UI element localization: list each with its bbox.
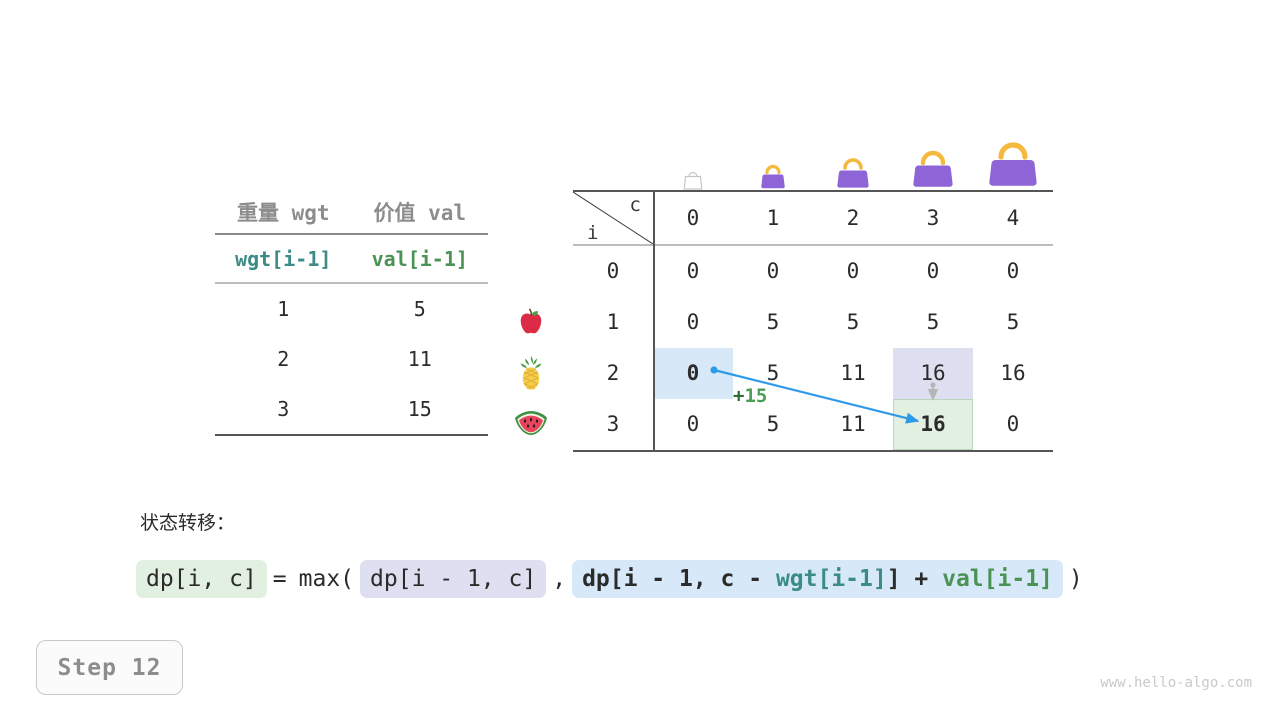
- apple-icon: [506, 296, 556, 347]
- formula-close-paren: ): [1063, 566, 1089, 592]
- left-table-subheader-val: val[i-1]: [352, 247, 489, 271]
- dp-corner-col-label: c: [630, 194, 641, 216]
- plus-value: 15: [744, 385, 767, 407]
- footer-watermark: www.hello-algo.com: [1100, 675, 1252, 691]
- left-table-cell-val: 5: [352, 297, 489, 321]
- left-table-subheader-wgt: wgt[i-1]: [215, 247, 352, 271]
- plus-value-annotation: +15: [733, 385, 767, 407]
- dp-cell: 0: [973, 246, 1053, 297]
- bag-large-icon: [893, 146, 973, 190]
- formula-term-take-prefix: dp[i - 1, c -: [582, 566, 776, 592]
- left-table-header-val: 价值 val: [352, 197, 489, 227]
- dp-row-label: 2: [573, 348, 653, 399]
- dp-table-vertical-separator: [653, 190, 655, 452]
- left-table-cell-val: 15: [352, 397, 489, 421]
- dp-cell: 5: [893, 297, 973, 348]
- dp-table-header-row: c i 0 1 2 3 4: [573, 192, 1053, 244]
- dp-cell: 16: [973, 348, 1053, 399]
- dp-cell: 0: [653, 246, 733, 297]
- pineapple-icon: [506, 347, 556, 398]
- state-transition-formula: dp[i, c] = max( dp[i - 1, c] , dp[i - 1,…: [136, 560, 1089, 598]
- dp-col-header: 2: [813, 192, 893, 244]
- dp-col-header: 3: [893, 192, 973, 244]
- left-table-row: 1 5: [215, 284, 488, 334]
- dp-cell-highlight-above: 16: [893, 348, 973, 399]
- dp-cell: 0: [653, 297, 733, 348]
- dp-cell: 5: [733, 297, 813, 348]
- left-table-cell-wgt: 3: [215, 397, 352, 421]
- formula-term-take: dp[i - 1, c - wgt[i-1]] + val[i-1]: [572, 560, 1063, 598]
- dp-table-rule-header: [573, 244, 1053, 246]
- dp-table-rule-bottom: [573, 450, 1053, 452]
- left-table-row: 2 11: [215, 334, 488, 384]
- dp-table-row: 1 0 5 5 5 5: [573, 297, 1053, 348]
- formula-equals: =: [267, 566, 293, 592]
- dp-col-header: 1: [733, 192, 813, 244]
- bag-capacity-icons: [653, 122, 1053, 190]
- dp-table-row: 2 0 5 11 16 16: [573, 348, 1053, 399]
- dp-cell: 5: [813, 297, 893, 348]
- formula-wgt-token: wgt[i-1]: [776, 566, 887, 592]
- fruit-column: [506, 296, 556, 449]
- dp-table-row: 0 0 0 0 0 0: [573, 246, 1053, 297]
- dp-table-row: 3 0 5 11 16 0: [573, 399, 1053, 450]
- watermelon-icon: [506, 398, 556, 449]
- bag-medium-icon: [813, 156, 893, 190]
- left-table-row: 3 15: [215, 384, 488, 434]
- bag-xlarge-icon: [973, 136, 1053, 190]
- formula-comma: ,: [546, 566, 572, 592]
- dp-cell-pending: 0: [973, 399, 1053, 450]
- left-table-cell-wgt: 2: [215, 347, 352, 371]
- dp-table: c i 0 1 2 3 4 0 0 0 0 0 0 1 0 5 5 5 5: [573, 190, 1053, 452]
- formula-term-skip: dp[i - 1, c]: [360, 560, 546, 598]
- bag-empty-icon: [653, 168, 733, 190]
- state-transition-caption: 状态转移：: [140, 508, 235, 535]
- left-table-cell-val: 11: [352, 347, 489, 371]
- left-table-header-wgt: 重量 wgt: [215, 197, 352, 227]
- formula-target: dp[i, c]: [136, 560, 267, 598]
- dp-col-header: 0: [653, 192, 733, 244]
- weight-value-table: 重量 wgt 价值 val wgt[i-1] val[i-1] 1 5 2 11…: [215, 190, 488, 436]
- formula-max-open: max(: [293, 566, 360, 592]
- dp-row-label: 0: [573, 246, 653, 297]
- dp-cell-highlight-source: 0: [653, 348, 733, 399]
- formula-term-take-middle: ] +: [887, 566, 942, 592]
- dp-cell: 5: [973, 297, 1053, 348]
- plus-sign: +: [733, 385, 744, 407]
- dp-corner-row-label: i: [587, 222, 598, 244]
- dp-cell: 0: [813, 246, 893, 297]
- dp-cell: 0: [733, 246, 813, 297]
- dp-table-corner-cell: c i: [573, 192, 653, 244]
- left-table-header-row: 重量 wgt 价值 val: [215, 190, 488, 233]
- dp-cell: 0: [893, 246, 973, 297]
- left-table-rule-bottom: [215, 434, 488, 436]
- dp-cell-highlight-target: 16: [893, 399, 973, 450]
- dp-row-label: 3: [573, 399, 653, 450]
- diagonal-divider-icon: [573, 192, 653, 244]
- left-table-subheader-row: wgt[i-1] val[i-1]: [215, 235, 488, 282]
- step-badge: Step 12: [36, 640, 183, 695]
- dp-row-label: 1: [573, 297, 653, 348]
- bag-small-icon: [733, 163, 813, 190]
- dp-col-header: 4: [973, 192, 1053, 244]
- dp-cell: 0: [653, 399, 733, 450]
- formula-val-token: val[i-1]: [942, 566, 1053, 592]
- dp-cell: 11: [813, 348, 893, 399]
- left-table-cell-wgt: 1: [215, 297, 352, 321]
- dp-cell: 11: [813, 399, 893, 450]
